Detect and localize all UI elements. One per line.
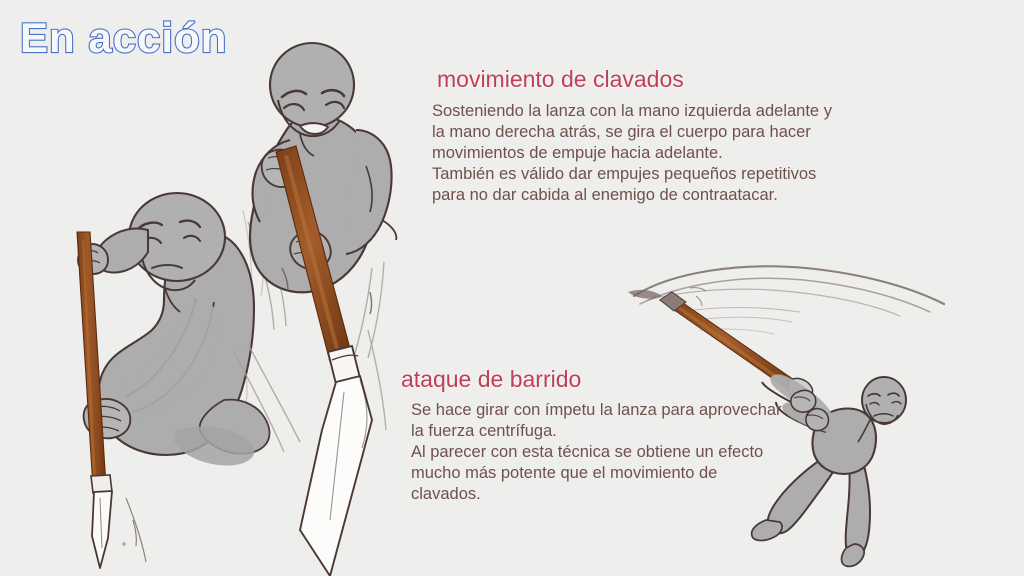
section-body-barrido: Se hace girar con ímpetu la lanza para a…	[411, 400, 811, 505]
section-heading-barrido: ataque de barrido	[401, 366, 581, 393]
figure-vertical-guard	[77, 193, 269, 568]
figure-thrust	[234, 43, 396, 576]
section-body-clavados: Sosteniendo la lanza con la mano izquier…	[432, 101, 862, 206]
slide-canvas: En acción movimiento de clavados Sosteni…	[0, 0, 1024, 576]
page-title: En acción	[20, 14, 227, 62]
section-heading-clavados: movimiento de clavados	[437, 66, 684, 93]
